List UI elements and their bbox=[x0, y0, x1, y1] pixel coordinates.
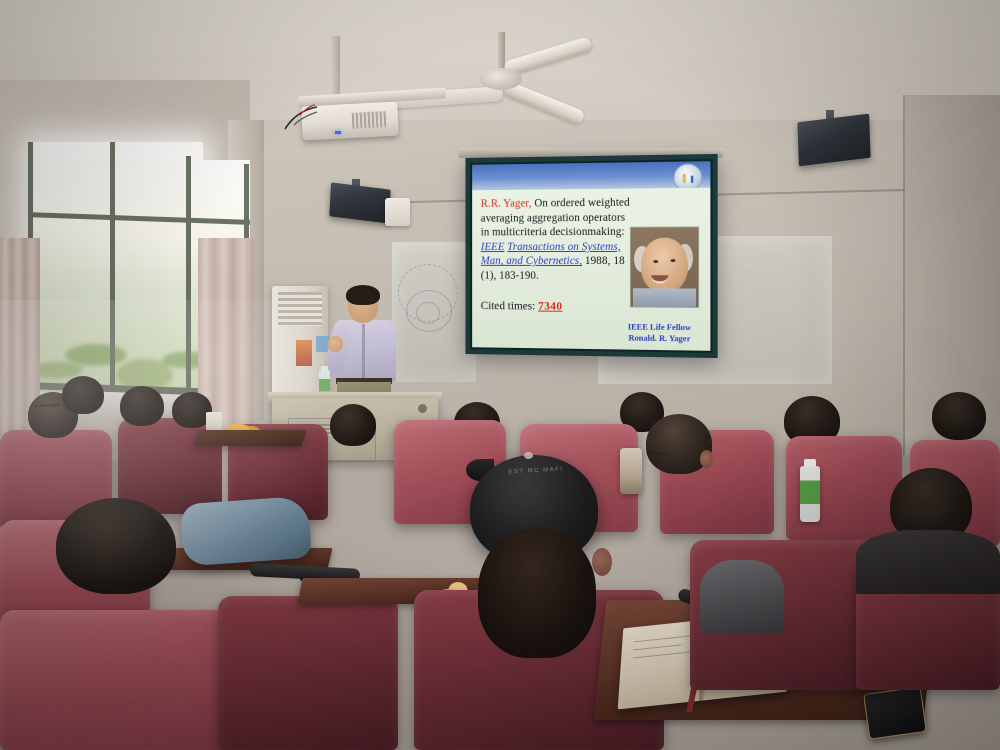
lecture-hall-photo: R.R. Yager, On ordered weighted averagin… bbox=[0, 0, 1000, 750]
eyeglasses-icon bbox=[350, 299, 376, 306]
notebook-handwriting bbox=[634, 635, 692, 642]
student-head bbox=[62, 376, 104, 414]
paper-cup bbox=[206, 412, 222, 432]
cited-times-label: Cited times: bbox=[481, 299, 535, 312]
ear bbox=[700, 450, 713, 468]
student-head bbox=[330, 404, 376, 446]
portrait-eye bbox=[670, 259, 675, 262]
citation-author: R.R. Yager, bbox=[481, 198, 532, 210]
projection-screen: R.R. Yager, On ordered weighted averagin… bbox=[465, 154, 717, 358]
air-conditioner-badge bbox=[296, 340, 312, 366]
citation-journal-line3: Man, and Cybernetics, bbox=[481, 255, 582, 267]
wall-speaker-icon bbox=[797, 114, 870, 167]
smartphone bbox=[863, 686, 927, 740]
thermos-flask bbox=[620, 448, 642, 494]
presenter-raised-hand bbox=[328, 336, 343, 352]
slide-header-band bbox=[472, 161, 710, 190]
slide-citation-text: R.R. Yager, On ordered weighted averagin… bbox=[481, 196, 630, 284]
notebook-handwriting bbox=[634, 644, 682, 650]
portrait-face bbox=[641, 238, 688, 293]
presenter bbox=[326, 288, 406, 406]
projector-mount bbox=[330, 36, 340, 98]
power-led-indicator bbox=[335, 131, 341, 134]
cap-button bbox=[524, 452, 533, 459]
cited-times-value: 7340 bbox=[538, 299, 562, 312]
ceiling-fan-icon bbox=[480, 68, 522, 90]
portrait-shirt bbox=[633, 288, 696, 307]
student-shoulder bbox=[700, 560, 784, 634]
bottle-cap bbox=[804, 459, 816, 467]
slide-content: R.R. Yager, On ordered weighted averagin… bbox=[472, 188, 710, 351]
student-head bbox=[932, 392, 986, 440]
air-conditioner-grille bbox=[278, 292, 322, 326]
window-mullion bbox=[110, 142, 115, 392]
podium-lock bbox=[418, 404, 427, 413]
projector-vent bbox=[352, 111, 387, 129]
portrait-caption-line2: Ronald. R. Yager bbox=[616, 332, 703, 344]
wifi-access-point-icon bbox=[385, 198, 410, 226]
seat bbox=[218, 596, 398, 750]
portrait-photo bbox=[630, 226, 699, 307]
presenter-shirt-placket bbox=[362, 324, 365, 380]
window-mullion bbox=[186, 156, 191, 392]
citation-line1: On ordered weighted bbox=[534, 197, 629, 210]
notebook-handwriting bbox=[633, 651, 695, 658]
whiteboard-sketch bbox=[398, 264, 458, 322]
window-wall bbox=[0, 120, 250, 410]
denim-jacket bbox=[180, 496, 312, 567]
citation-line3: multicriteria decisionmaking: bbox=[492, 226, 625, 238]
portrait-eye bbox=[653, 260, 658, 263]
seat bbox=[0, 610, 230, 750]
projected-slide: R.R. Yager, On ordered weighted averagin… bbox=[470, 159, 712, 353]
water-bottle bbox=[800, 466, 820, 522]
student-shoulders bbox=[856, 530, 1000, 594]
projector-cables bbox=[284, 104, 318, 130]
student-head bbox=[120, 386, 164, 426]
citation-journal-ieee: IEEE bbox=[481, 241, 505, 253]
ear bbox=[592, 548, 612, 576]
portrait-caption: IEEE Life Fellow Ronald. R. Yager bbox=[616, 321, 703, 344]
wall-corner bbox=[903, 95, 905, 455]
student-head bbox=[478, 528, 596, 658]
citation-journal-line2: Transactions on Systems, bbox=[507, 241, 620, 253]
student-head bbox=[56, 498, 176, 594]
desk bbox=[194, 430, 307, 446]
wall-speaker-icon bbox=[329, 182, 390, 223]
